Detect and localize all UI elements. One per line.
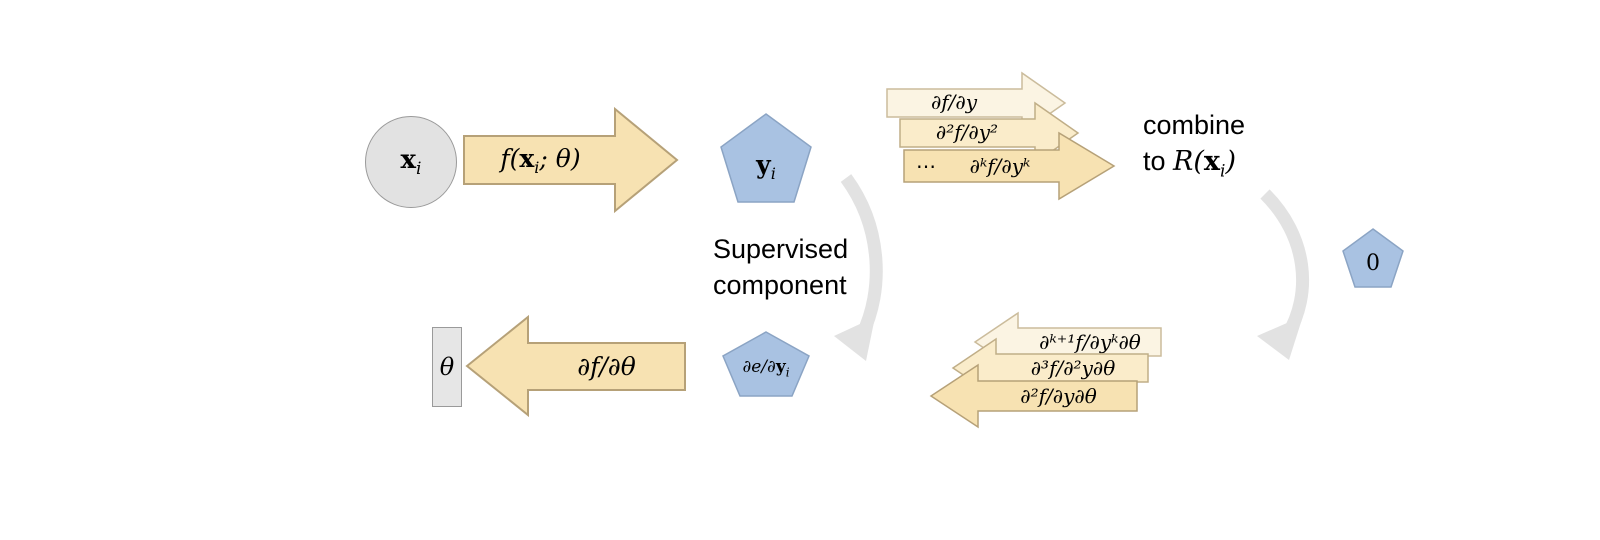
zero-pentagon-label: 0 [1342,228,1404,293]
curved-arrow-supervised-head [834,317,875,361]
combine-caption: combine to R(xi) [1143,108,1245,182]
output-derivative-arrow-3: ⋯ ∂ᵏf/∂yᵏ [903,132,1115,200]
output-pentagon-label: yi [720,113,812,211]
diagram-canvas: xi f(xi; θ) yi ∂f/∂y [0,0,1600,540]
supervised-caption-line1: Supervised [713,232,848,268]
input-circle-label: xi [401,145,422,179]
curved-arrow-supervised-shaft [846,178,876,335]
forward-arrow-label: f(xi; θ) [468,134,613,186]
error-pentagon-label: ∂e/∂yi [722,331,810,401]
output-derivative-arrow-3-label: ∂ᵏf/∂yᵏ [941,146,1059,186]
combine-caption-line2: to R(xi) [1143,144,1245,183]
curved-arrow-residual-head [1257,316,1303,360]
mixed-derivative-arrow-3-label: ∂²f/∂y∂θ [980,377,1137,415]
theta-rect-label: θ [440,353,454,381]
mixed-derivative-arrow-3: ∂²f/∂y∂θ [930,364,1138,428]
supervised-caption-line2: component [713,268,848,304]
combine-caption-line1: combine [1143,108,1245,144]
output-pentagon: yi [720,113,812,203]
supervised-caption: Supervised component [713,232,848,303]
grad-theta-arrow: ∂f/∂θ [466,316,686,416]
input-circle: xi [365,116,457,208]
output-derivative-arrow-3-prefix: ⋯ [911,146,941,186]
grad-theta-arrow-label: ∂f/∂θ [528,340,685,392]
curved-arrow-residual [1245,188,1325,363]
error-pentagon: ∂e/∂yi [722,331,810,397]
zero-pentagon: 0 [1342,228,1404,288]
forward-arrow: f(xi; θ) [463,108,678,212]
curved-arrow-residual-shaft [1265,194,1303,336]
theta-rect: θ [432,327,462,407]
